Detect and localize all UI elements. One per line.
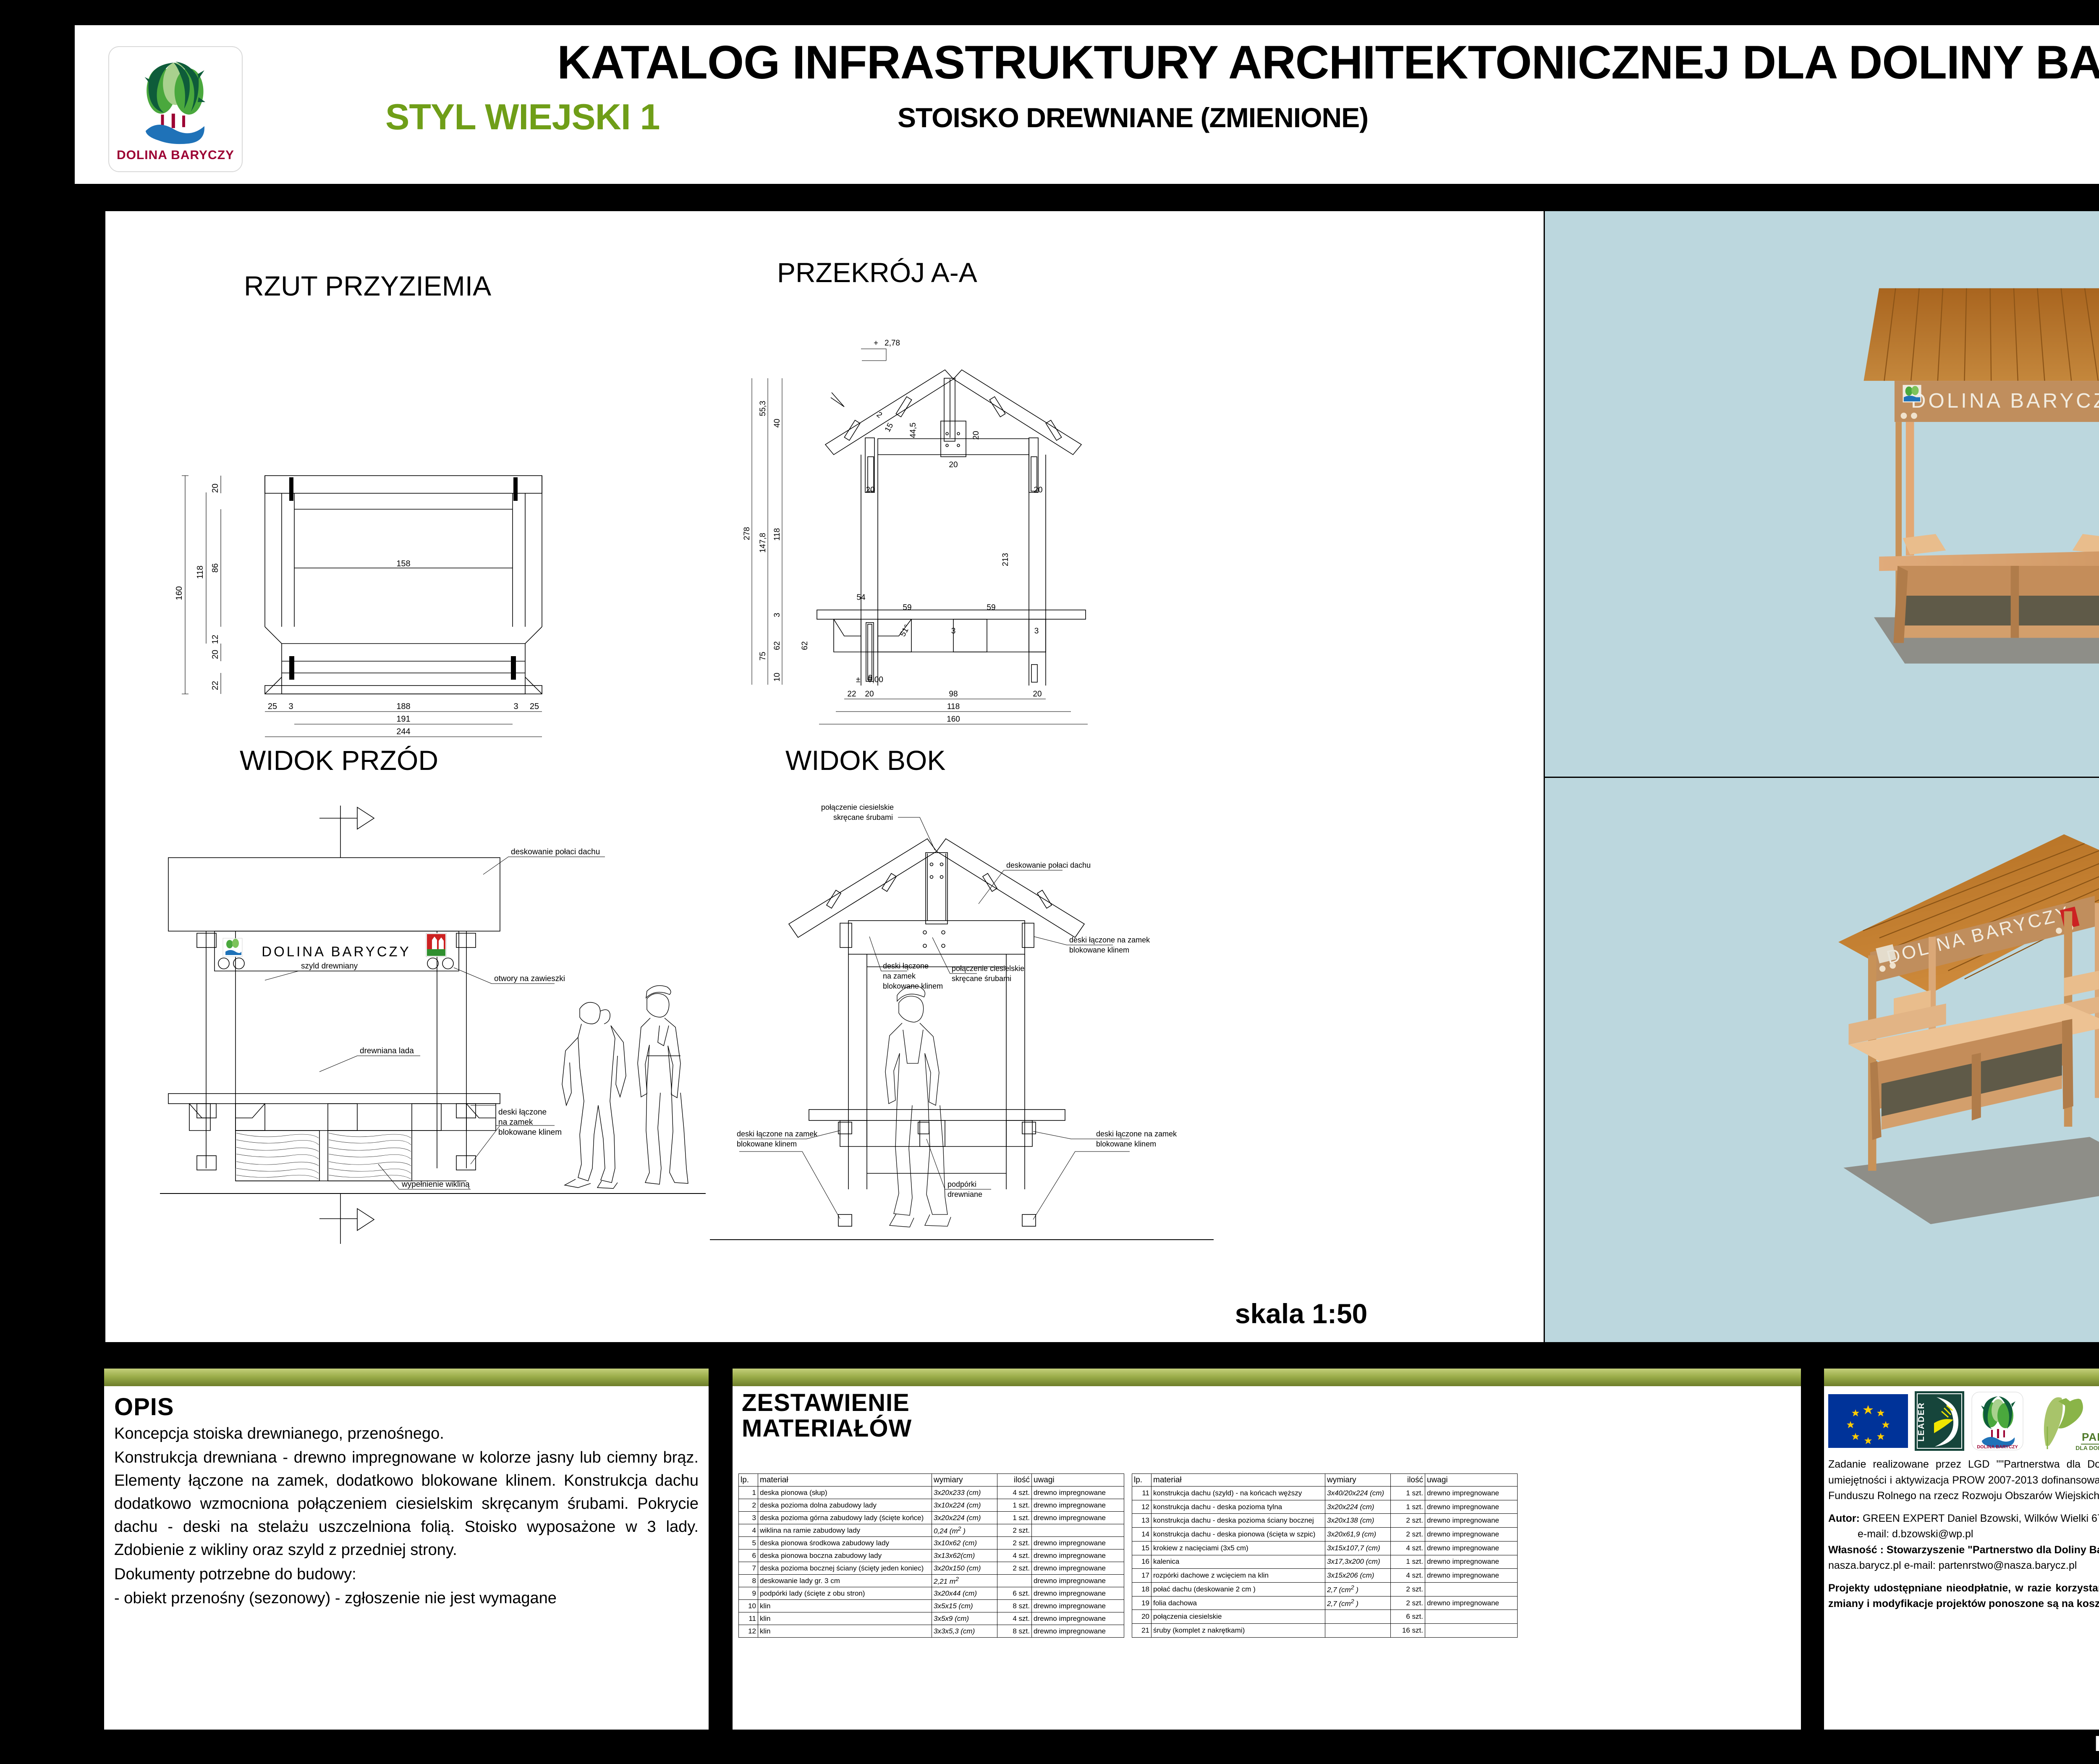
author-text: GREEN EXPERT Daniel Bzowski, Wilków Wiel… xyxy=(1863,1513,2099,1524)
materials-table-right: lp. materiał wymiary ilość uwagi 11konst… xyxy=(1132,1473,1518,1638)
stall-front-render-icon: DOLINA BARYCZY xyxy=(1545,211,2099,777)
svg-text:213: 213 xyxy=(1001,553,1010,566)
cell-lp: 7 xyxy=(739,1562,758,1575)
svg-text:54: 54 xyxy=(856,593,866,602)
th-uwagi: uwagi xyxy=(1032,1474,1124,1487)
dolina-baryczy-logo: DOLINA BARYCZY xyxy=(108,46,243,172)
cell-uwagi: drewno impregnowane xyxy=(1425,1528,1518,1542)
cell-wymiary: 3x5x9 (cm) xyxy=(932,1612,997,1625)
cell-lp: 15 xyxy=(1132,1541,1152,1555)
cell-ilosc: 4 szt. xyxy=(1391,1569,1425,1583)
cell-material: połączenia ciesielskie xyxy=(1152,1610,1325,1624)
svg-text:98: 98 xyxy=(949,690,958,699)
svg-text:20: 20 xyxy=(211,650,220,659)
partnerstwo-subtext: DLA DOLINY BARYCZY xyxy=(2075,1445,2099,1451)
cell-ilosc: 2 szt. xyxy=(1391,1596,1425,1610)
table-row: 18połać dachu (deskowanie 2 cm )2,7 (cm2… xyxy=(1132,1583,1518,1596)
cell-ilosc: 4 szt. xyxy=(997,1549,1032,1562)
table-row: 4wiklina na ramie zabudowy lady0,24 (m2 … xyxy=(739,1524,1124,1537)
page-title: KATALOG INFRASTRUKTURY ARCHITEKTONICZNEJ… xyxy=(385,35,2099,89)
cell-lp: 18 xyxy=(1132,1583,1152,1596)
cell-wymiary: 3x10x62 (cm) xyxy=(932,1537,997,1549)
svg-text:51°: 51° xyxy=(898,623,912,638)
opis-heading: OPIS xyxy=(114,1393,174,1421)
opis-paragraph-1: Koncepcja stoiska drewnianego, przenośne… xyxy=(114,1422,699,1445)
style-tag: STYL WIEJSKI 1 xyxy=(385,97,660,138)
svg-text:75: 75 xyxy=(759,652,767,660)
cell-uwagi: drewno impregnowane xyxy=(1032,1499,1124,1512)
cell-material: deska pozioma dolna zabudowy lady xyxy=(758,1499,932,1512)
table-row: 9podpórki lady (ścięte z obu stron)3x20x… xyxy=(739,1587,1124,1600)
cell-wymiary: 3x20x61,9 (cm) xyxy=(1325,1528,1391,1542)
svg-text:244: 244 xyxy=(396,727,410,736)
page-header: DOLINA BARYCZY KATALOG INFRASTRUKTURY AR… xyxy=(75,25,2099,184)
plan-drawing-title: RZUT PRZYZIEMIA xyxy=(244,270,491,302)
partnerstwo-logo: PARTNERSTWO DLA DOLINY BARYCZY xyxy=(2031,1391,2099,1451)
plan-drawing: 160 118 86 20 12 20 22 158 25 3 188 3 25… xyxy=(156,350,651,728)
side-view-drawing: połączenie ciesielskie skręcane śrubami … xyxy=(710,769,1214,1290)
terms-text: Projekty udostępniane nieodpłatnie, w ra… xyxy=(1828,1581,2099,1612)
render-pane: DOLINA BARYCZY xyxy=(1545,211,2099,1342)
cell-wymiary: 3x20x44 (cm) xyxy=(932,1587,997,1600)
footer-panel: LEADER DOLINA BARYCZY xyxy=(1824,1369,2099,1730)
svg-text:3: 3 xyxy=(773,613,782,618)
table-row: 15krokiew z nacięciami (3x5 cm)3x15x107,… xyxy=(1132,1541,1518,1555)
table-row: 7deska pozioma bocznej ściany (ścięty je… xyxy=(739,1562,1124,1575)
funding-text: Zadanie realizowane przez LGD ""Partners… xyxy=(1828,1457,2099,1504)
th-ilosc: ilość xyxy=(1391,1474,1425,1487)
cell-wymiary: 3x20x224 (cm) xyxy=(932,1512,997,1524)
cell-ilosc: 4 szt. xyxy=(997,1612,1032,1625)
th-wymiary: wymiary xyxy=(932,1474,997,1487)
svg-text:2,78: 2,78 xyxy=(885,339,900,348)
svg-text:drewniane: drewniane xyxy=(947,1190,982,1199)
cell-wymiary: 3x20x233 (cm) xyxy=(932,1487,997,1499)
svg-text:20: 20 xyxy=(866,486,874,495)
svg-text:44,5: 44,5 xyxy=(909,423,918,438)
cell-uwagi: drewno impregnowane xyxy=(1425,1500,1518,1514)
cell-material: konstrukcja dachu (szyld) - na końcach w… xyxy=(1152,1487,1325,1500)
render-front-3d: DOLINA BARYCZY xyxy=(1545,211,2099,777)
svg-text:podpórki: podpórki xyxy=(947,1180,976,1188)
svg-text:skręcane śrubami: skręcane śrubami xyxy=(952,974,1011,983)
leader-wordmark: LEADER xyxy=(1917,1402,1926,1442)
render-perspective-3d: DOLINA BARYCZY xyxy=(1545,777,2099,1342)
svg-text:118: 118 xyxy=(773,528,782,541)
opis-green-bar xyxy=(104,1369,709,1386)
svg-text:połączenie ciesielskie: połączenie ciesielskie xyxy=(952,964,1024,973)
cell-material: deska pozioma bocznej ściany (ścięty jed… xyxy=(758,1562,932,1575)
cell-material: krokiew z nacięciami (3x5 cm) xyxy=(1152,1541,1325,1555)
cell-uwagi: drewno impregnowane xyxy=(1032,1612,1124,1625)
cell-ilosc: 2 szt. xyxy=(997,1562,1032,1575)
stall-perspective-render-icon: DOLINA BARYCZY xyxy=(1545,778,2099,1342)
cell-lp: 12 xyxy=(1132,1500,1152,1514)
cell-material: podpórki lady (ścięte z obu stron) xyxy=(758,1587,932,1600)
cell-uwagi: drewno impregnowane xyxy=(1032,1587,1124,1600)
cell-material: deska pozioma górna zabudowy lady (ścięt… xyxy=(758,1512,932,1524)
svg-text:20: 20 xyxy=(1033,690,1042,699)
svg-text:blokowane klinem: blokowane klinem xyxy=(498,1128,562,1137)
cell-lp: 12 xyxy=(739,1625,758,1638)
cell-uwagi: drewno impregnowane xyxy=(1425,1569,1518,1583)
svg-text:191: 191 xyxy=(396,714,410,724)
table-row: 8deskowanie lady gr. 3 cm2,21 m2drewno i… xyxy=(739,1575,1124,1587)
section-drawing-title: PRZEKRÓJ A-A xyxy=(777,256,977,288)
bottom-section: OPIS Koncepcja stoiska drewnianego, prze… xyxy=(0,1356,2099,1734)
zestawienie-heading: ZESTAWIENIE MATERIAŁÓW xyxy=(742,1390,1120,1442)
cell-wymiary: 3x13x62(cm) xyxy=(932,1549,997,1562)
cell-wymiary: 3x3x5,3 (cm) xyxy=(932,1625,997,1638)
table-row: 16kalenica3x17,3x200 (cm)1 szt.drewno im… xyxy=(1132,1555,1518,1569)
logo-caption: DOLINA BARYCZY xyxy=(117,148,234,162)
table-row: 6deska pionowa boczna zabudowy lady3x13x… xyxy=(739,1549,1124,1562)
table-row: 2deska pozioma dolna zabudowy lady3x10x2… xyxy=(739,1499,1124,1512)
cell-wymiary xyxy=(1325,1610,1391,1624)
cell-material: śruby (komplet z nakrętkami) xyxy=(1152,1624,1325,1638)
cell-material: rozpórki dachowe z wcięciem na klin xyxy=(1152,1569,1325,1583)
svg-text:59: 59 xyxy=(903,603,911,612)
svg-text:blokowane klinem: blokowane klinem xyxy=(737,1140,797,1148)
cell-material: konstrukcja dachu - deska pozioma tylna xyxy=(1152,1500,1325,1514)
owner-web: nasza.barycz.pl e-mail: partenrstwo@nasz… xyxy=(1828,1558,2099,1574)
cell-uwagi: drewno impregnowane xyxy=(1032,1625,1124,1638)
svg-text:22: 22 xyxy=(847,690,856,699)
svg-text:118: 118 xyxy=(947,702,960,711)
svg-text:12: 12 xyxy=(211,635,220,644)
svg-text:10: 10 xyxy=(773,673,782,681)
svg-text:20: 20 xyxy=(949,461,958,469)
cell-material: konstrukcja dachu - deska pionowa (ścięt… xyxy=(1152,1528,1325,1542)
cell-ilosc: 6 szt. xyxy=(1391,1610,1425,1624)
author-label: Autor: xyxy=(1828,1513,1860,1524)
cell-uwagi xyxy=(1425,1624,1518,1638)
leader-logo: LEADER xyxy=(1915,1391,1964,1451)
svg-text:deski łączone na zamek: deski łączone na zamek xyxy=(1096,1130,1177,1138)
section-drawing: 278 55,3 147,8 75 40 118 3 62 10 62 +2,7… xyxy=(735,333,1188,736)
cell-wymiary: 3x40/20x224 (cm) xyxy=(1325,1487,1391,1500)
table-row: 11klin3x5x9 (cm)4 szt.drewno impregnowan… xyxy=(739,1612,1124,1625)
svg-text:55,3: 55,3 xyxy=(759,401,767,416)
drawing-sheet: RZUT PRZYZIEMIA PRZEKRÓJ A-A WIDOK PRZÓD… xyxy=(104,210,2099,1343)
scale-label: skala 1:50 xyxy=(1235,1298,1368,1330)
cell-wymiary: 2,7 (cm2 ) xyxy=(1325,1583,1391,1596)
cell-ilosc xyxy=(997,1575,1032,1587)
table-row: 10klin3x5x15 (cm)8 szt.drewno impregnowa… xyxy=(739,1600,1124,1612)
dolina-baryczy-footer-logo: DOLINA BARYCZY xyxy=(1971,1391,2024,1451)
svg-text:160: 160 xyxy=(175,586,184,600)
cell-ilosc: 1 szt. xyxy=(997,1512,1032,1524)
svg-text:2: 2 xyxy=(875,410,884,420)
opis-paragraph-2: Konstrukcja drewniana - drewno impregnow… xyxy=(114,1446,699,1562)
cell-lp: 2 xyxy=(739,1499,758,1512)
cell-material: klin xyxy=(758,1612,932,1625)
cell-uwagi: drewno impregnowane xyxy=(1425,1514,1518,1528)
svg-text:na zamek: na zamek xyxy=(883,972,916,980)
svg-text:22: 22 xyxy=(211,681,220,690)
svg-text:9: 9 xyxy=(868,674,873,683)
svg-text:deski łączone: deski łączone xyxy=(498,1108,547,1117)
cell-wymiary: 3x5x15 (cm) xyxy=(932,1600,997,1612)
svg-text:158: 158 xyxy=(396,559,410,568)
svg-text:blokowane klinem: blokowane klinem xyxy=(1069,946,1129,954)
front-view-drawing: DOLINA BARYCZY deskowanie połaci dachu o… xyxy=(160,774,706,1290)
th-lp: lp. xyxy=(739,1474,758,1487)
svg-text:blokowane klinem: blokowane klinem xyxy=(883,982,943,990)
cell-uwagi: drewno impregnowane xyxy=(1032,1487,1124,1499)
cell-lp: 9 xyxy=(739,1587,758,1600)
table-row: 13konstrukcja dachu - deska pozioma ścia… xyxy=(1132,1514,1518,1528)
cell-lp: 10 xyxy=(739,1600,758,1612)
cell-wymiary: 3x20x138 (cm) xyxy=(1325,1514,1391,1528)
svg-text:deski łączone na zamek: deski łączone na zamek xyxy=(1069,936,1150,944)
zestawienie-green-bar xyxy=(733,1369,1801,1386)
cell-material: konstrukcja dachu - deska pozioma ściany… xyxy=(1152,1514,1325,1528)
svg-text:3: 3 xyxy=(513,702,518,711)
cell-ilosc: 4 szt. xyxy=(997,1487,1032,1499)
opis-body: Koncepcja stoiska drewnianego, przenośne… xyxy=(114,1422,699,1611)
render-sign-text: DOLINA BARYCZY xyxy=(1911,390,2099,412)
cell-lp: 11 xyxy=(739,1612,758,1625)
svg-text:20: 20 xyxy=(865,690,874,699)
table-row: 14konstrukcja dachu - deska pionowa (ści… xyxy=(1132,1528,1518,1542)
cell-lp: 1 xyxy=(739,1487,758,1499)
front-annotation-counter: drewniana lada xyxy=(360,1047,414,1055)
cell-wymiary: 3x15x107,7 (cm) xyxy=(1325,1541,1391,1555)
cell-ilosc: 2 szt. xyxy=(1391,1514,1425,1528)
cell-uwagi: drewno impregnowane xyxy=(1425,1487,1518,1500)
cell-material: kalenica xyxy=(1152,1555,1325,1569)
cell-ilosc: 1 szt. xyxy=(997,1499,1032,1512)
cell-wymiary: 3x17,3x200 (cm) xyxy=(1325,1555,1391,1569)
svg-text:deskowanie połaci dachu: deskowanie połaci dachu xyxy=(1006,861,1091,869)
cell-material: wiklina na ramie zabudowy lady xyxy=(758,1524,932,1537)
footer-green-bar xyxy=(1824,1369,2099,1386)
table-row: 3deska pozioma górna zabudowy lady (ścię… xyxy=(739,1512,1124,1524)
cell-lp: 13 xyxy=(1132,1514,1152,1528)
svg-text:15: 15 xyxy=(883,421,895,434)
sign-text: DOLINA BARYCZY xyxy=(262,944,411,959)
front-annotation-roof: deskowanie połaci dachu xyxy=(511,848,600,856)
cell-wymiary: 2,7 (cm2 ) xyxy=(1325,1596,1391,1610)
cell-lp: 3 xyxy=(739,1512,758,1524)
zestawienie-heading-line1: ZESTAWIENIE xyxy=(742,1390,1120,1416)
cell-ilosc: 1 szt. xyxy=(1391,1487,1425,1500)
cell-material: deska pionowa (słup) xyxy=(758,1487,932,1499)
cell-material: połać dachu (deskowanie 2 cm ) xyxy=(1152,1583,1325,1596)
cell-lp: 14 xyxy=(1132,1528,1152,1542)
svg-text:188: 188 xyxy=(396,702,410,711)
cell-uwagi: drewno impregnowane xyxy=(1425,1596,1518,1610)
cell-uwagi: drewno impregnowane xyxy=(1032,1512,1124,1524)
zestawienie-heading-line2: MATERIAŁÓW xyxy=(742,1416,1120,1442)
svg-text:147,8: 147,8 xyxy=(759,533,767,553)
opis-paragraph-4: - obiekt przenośny (sezonowy) - zgłoszen… xyxy=(114,1587,699,1610)
cell-uwagi: drewno impregnowane xyxy=(1032,1600,1124,1612)
cell-ilosc: 2 szt. xyxy=(1391,1583,1425,1596)
cell-wymiary: 3x15x206 (cm) xyxy=(1325,1569,1391,1583)
owner-label: Własność : Stowarzyszenie "Partnerstwo d… xyxy=(1828,1544,2099,1556)
cell-ilosc: 2 szt. xyxy=(997,1524,1032,1537)
svg-text:20: 20 xyxy=(972,431,981,440)
cell-uwagi: drewno impregnowane xyxy=(1032,1575,1124,1587)
svg-text:na zamek: na zamek xyxy=(498,1118,533,1127)
table-row: 12klin3x3x5,3 (cm)8 szt.drewno impregnow… xyxy=(739,1625,1124,1638)
dolina-baryczy-emblem-icon xyxy=(127,56,224,147)
cell-lp: 21 xyxy=(1132,1624,1152,1638)
svg-text:62: 62 xyxy=(801,641,809,650)
table-row: 21śruby (komplet z nakrętkami)16 szt. xyxy=(1132,1624,1518,1638)
cell-material: klin xyxy=(758,1625,932,1638)
svg-text:+: + xyxy=(874,339,878,348)
cell-wymiary: 0,24 (m2 ) xyxy=(932,1524,997,1537)
technical-drawings-pane: RZUT PRZYZIEMIA PRZEKRÓJ A-A WIDOK PRZÓD… xyxy=(105,211,1545,1342)
svg-text:20: 20 xyxy=(211,484,220,493)
cell-ilosc: 8 szt. xyxy=(997,1625,1032,1638)
svg-text:blokowane klinem: blokowane klinem xyxy=(1096,1140,1156,1148)
cell-ilosc: 8 szt. xyxy=(997,1600,1032,1612)
cell-uwagi: drewno impregnowane xyxy=(1032,1549,1124,1562)
svg-text:3: 3 xyxy=(288,702,293,711)
table-row: 1deska pionowa (słup)3x20x233 (cm)4 szt.… xyxy=(739,1487,1124,1499)
cell-lp: 19 xyxy=(1132,1596,1152,1610)
footer-logos: LEADER DOLINA BARYCZY xyxy=(1828,1388,2099,1451)
cell-wymiary xyxy=(1325,1624,1391,1638)
front-view-title: WIDOK PRZÓD xyxy=(240,744,438,776)
cell-uwagi xyxy=(1425,1583,1518,1596)
cell-ilosc: 6 szt. xyxy=(997,1587,1032,1600)
cell-uwagi: drewno impregnowane xyxy=(1425,1555,1518,1569)
cell-lp: 20 xyxy=(1132,1610,1152,1624)
svg-text:86: 86 xyxy=(211,563,220,573)
karta-label: KARTA: STOISKO DREWNIANE 1/2 xyxy=(2094,1731,2099,1756)
front-annotation-hooks: otwory na zawieszki xyxy=(494,974,565,983)
svg-text:62: 62 xyxy=(773,641,782,650)
svg-text:40: 40 xyxy=(773,419,782,427)
th-lp: lp. xyxy=(1132,1474,1152,1487)
footer-text: Zadanie realizowane przez LGD ""Partners… xyxy=(1828,1457,2099,1612)
cell-lp: 6 xyxy=(739,1549,758,1562)
table-row: 19folia dachowa2,7 (cm2 )2 szt.drewno im… xyxy=(1132,1596,1518,1610)
cell-ilosc: 16 szt. xyxy=(1391,1624,1425,1638)
cell-lp: 4 xyxy=(739,1524,758,1537)
cell-lp: 17 xyxy=(1132,1569,1152,1583)
svg-text:deski łączone na zamek: deski łączone na zamek xyxy=(737,1130,818,1138)
cell-wymiary: 2,21 m2 xyxy=(932,1575,997,1587)
svg-text:deski łączone: deski łączone xyxy=(883,962,929,970)
svg-text:połączenie ciesielskie: połączenie ciesielskie xyxy=(821,803,894,811)
svg-text:278: 278 xyxy=(743,527,751,540)
svg-text:3: 3 xyxy=(951,627,956,636)
materials-table-left: lp. materiał wymiary ilość uwagi 1deska … xyxy=(738,1473,1124,1638)
table-row: 17rozpórki dachowe z wcięciem na klin3x1… xyxy=(1132,1569,1518,1583)
svg-text:160: 160 xyxy=(947,715,960,724)
cell-material: klin xyxy=(758,1600,932,1612)
cell-wymiary: 3x10x224 (cm) xyxy=(932,1499,997,1512)
svg-text:20: 20 xyxy=(1034,486,1042,495)
cell-ilosc: 2 szt. xyxy=(1391,1528,1425,1542)
svg-text:skręcane śrubami: skręcane śrubami xyxy=(833,813,893,822)
object-title: STOISKO DREWNIANE (ZMIENIONE) xyxy=(898,102,1368,133)
table-header-row: lp. materiał wymiary ilość uwagi xyxy=(739,1474,1124,1487)
svg-text:±: ± xyxy=(856,675,860,684)
th-material: materiał xyxy=(758,1474,932,1487)
svg-text:118: 118 xyxy=(196,565,205,579)
zestawienie-panel: ZESTAWIENIE MATERIAŁÓW lp. materiał wymi… xyxy=(733,1369,1801,1730)
svg-text:59: 59 xyxy=(987,603,995,612)
table-header-row: lp. materiał wymiary ilość uwagi xyxy=(1132,1474,1518,1487)
th-material: materiał xyxy=(1152,1474,1325,1487)
cell-ilosc: 1 szt. xyxy=(1391,1555,1425,1569)
cell-material: deska pionowa środkowa zabudowy lady xyxy=(758,1537,932,1549)
partnerstwo-wordmark: PARTNERSTWO xyxy=(2082,1431,2099,1443)
cell-uwagi xyxy=(1032,1524,1124,1537)
materials-tables: lp. materiał wymiary ilość uwagi 1deska … xyxy=(738,1473,1518,1638)
cell-material: deskowanie lady gr. 3 cm xyxy=(758,1575,932,1587)
cell-lp: 8 xyxy=(739,1575,758,1587)
opis-panel: OPIS Koncepcja stoiska drewnianego, prze… xyxy=(104,1369,709,1730)
th-wymiary: wymiary xyxy=(1325,1474,1391,1487)
table-row: 12konstrukcja dachu - deska pozioma tyln… xyxy=(1132,1500,1518,1514)
dolina-footer-caption: DOLINA BARYCZY xyxy=(1977,1445,2018,1450)
cell-uwagi: drewno impregnowane xyxy=(1032,1537,1124,1549)
cell-ilosc: 2 szt. xyxy=(997,1537,1032,1549)
cell-ilosc: 1 szt. xyxy=(1391,1500,1425,1514)
table-row: 20połączenia ciesielskie6 szt. xyxy=(1132,1610,1518,1624)
svg-text:25: 25 xyxy=(530,702,539,711)
th-uwagi: uwagi xyxy=(1425,1474,1518,1487)
th-ilosc: ilość xyxy=(997,1474,1032,1487)
table-row: 5deska pionowa środkowa zabudowy lady3x1… xyxy=(739,1537,1124,1549)
table-row: 11konstrukcja dachu (szyld) - na końcach… xyxy=(1132,1487,1518,1500)
front-annotation-sign: szyld drewniany xyxy=(301,962,358,971)
cell-ilosc: 4 szt. xyxy=(1391,1541,1425,1555)
cell-wymiary: 3x20x224 (cm) xyxy=(1325,1500,1391,1514)
svg-text:3: 3 xyxy=(1034,627,1039,636)
cell-uwagi xyxy=(1425,1610,1518,1624)
cell-lp: 11 xyxy=(1132,1487,1152,1500)
cell-material: deska pionowa boczna zabudowy lady xyxy=(758,1549,932,1562)
cell-material: folia dachowa xyxy=(1152,1596,1325,1610)
cell-uwagi: drewno impregnowane xyxy=(1032,1562,1124,1575)
cell-lp: 16 xyxy=(1132,1555,1152,1569)
cell-wymiary: 3x20x150 (cm) xyxy=(932,1562,997,1575)
front-annotation-wicker: wypełnienie wikliną xyxy=(401,1180,470,1189)
svg-text:25: 25 xyxy=(268,702,277,711)
cell-uwagi: drewno impregnowane xyxy=(1425,1541,1518,1555)
opis-paragraph-3: Dokumenty potrzebne do budowy: xyxy=(114,1563,699,1586)
eu-flag-logo xyxy=(1828,1391,1908,1451)
author-email: e-mail: d.bzowski@wp.pl xyxy=(1828,1526,2099,1542)
cell-lp: 5 xyxy=(739,1537,758,1549)
